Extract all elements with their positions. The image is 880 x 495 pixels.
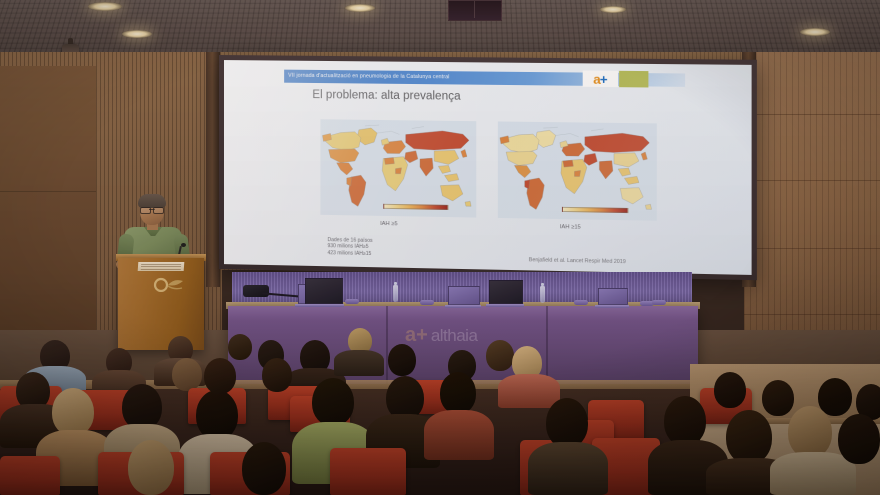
water-bottle-icon (540, 286, 545, 303)
audience-head (52, 388, 94, 436)
world-map-iah15 (498, 121, 657, 220)
water-bottle-icon (393, 285, 398, 302)
audience-head (726, 410, 772, 464)
audience-shoulders (334, 350, 384, 376)
audience-head (388, 344, 416, 376)
audience-head (312, 378, 354, 426)
auditorium-scene: VII jornada d'actualització en pneumolog… (0, 0, 880, 495)
speaker-hair (138, 194, 166, 208)
projection-screen-frame: VII jornada d'actualització en pneumolog… (219, 55, 757, 280)
downlight-icon (800, 28, 830, 36)
auditorium-seat[interactable] (0, 456, 60, 495)
podium-logo-icon (152, 276, 186, 292)
laptop-icon (305, 278, 343, 304)
audience-head (714, 372, 746, 408)
downlight-icon (88, 2, 122, 11)
room-shell: VII jornada d'actualització en pneumolog… (0, 0, 880, 495)
presentation-slide: VII jornada d'actualització en pneumolog… (224, 60, 752, 275)
audience-head (664, 396, 706, 446)
logo-plus-sign: + (600, 72, 608, 85)
audience-head (788, 406, 832, 458)
althaia-logo: a + (583, 70, 618, 87)
camera-rig (243, 285, 269, 297)
table-logo-text: althaia (431, 327, 478, 344)
microphone-icon (181, 243, 186, 247)
audience-shoulders (498, 374, 560, 408)
audience-head (440, 372, 476, 414)
map-caption-iah15: IAH ≥15 (560, 224, 581, 230)
audience-head (196, 390, 238, 440)
slide-notes: Dades de 16 països 930 milions IAH≥5 423… (327, 237, 372, 257)
ceiling-display-panel (448, 0, 502, 21)
audience-head (172, 358, 202, 391)
glasses-icon (140, 207, 164, 212)
audience-head (262, 358, 292, 392)
left-wall-panel-lower (0, 192, 96, 332)
slide-banner-text: VII jornada d'actualització en pneumolog… (288, 71, 449, 84)
laptop-icon (598, 288, 628, 305)
laptop-icon (448, 286, 480, 305)
downlight-icon (600, 6, 626, 13)
laptop-icon (489, 280, 523, 304)
world-map-iah5 (320, 119, 476, 217)
audience-head (546, 398, 588, 448)
table-logo-mark: a+ (405, 325, 428, 345)
audience-head (838, 414, 880, 464)
mouse-icon (420, 300, 434, 305)
wall-pillar-left (206, 52, 220, 287)
logo-color-block (619, 71, 648, 88)
mouse-icon (345, 299, 359, 304)
slide-citation: Benjafield et al. Lancet Respir Med 2019 (529, 257, 626, 265)
panel-table-seam (386, 306, 388, 384)
downlight-icon (122, 30, 152, 38)
audience-head (204, 358, 236, 394)
map-caption-iah5: IAH ≥5 (380, 221, 397, 227)
projection-screen: VII jornada d'actualització en pneumolog… (224, 60, 752, 275)
map-legend-gradient (562, 206, 629, 213)
podium-papers (138, 262, 185, 271)
mouse-icon (652, 300, 666, 305)
panel-table-seam (546, 306, 548, 384)
audience-shoulders (424, 410, 494, 460)
slide-title: El problema: alta prevalença (312, 89, 460, 103)
audience-head (128, 440, 174, 495)
map-legend-gradient (383, 203, 448, 210)
left-wall-panel-upper (0, 66, 96, 192)
audience-head (486, 340, 514, 371)
audience-head (762, 380, 794, 416)
podium-lectern (118, 258, 204, 350)
auditorium-seat[interactable] (330, 448, 406, 495)
audience-shoulders (770, 452, 856, 495)
mouse-icon (574, 300, 588, 305)
downlight-icon (345, 4, 375, 12)
audience-head (228, 334, 252, 360)
ceiling-display-divider (474, 1, 475, 18)
audience-head (242, 442, 286, 495)
slide-note-line-3: 423 milions IAH≥15 (327, 250, 372, 257)
audience-shoulders (528, 442, 608, 495)
